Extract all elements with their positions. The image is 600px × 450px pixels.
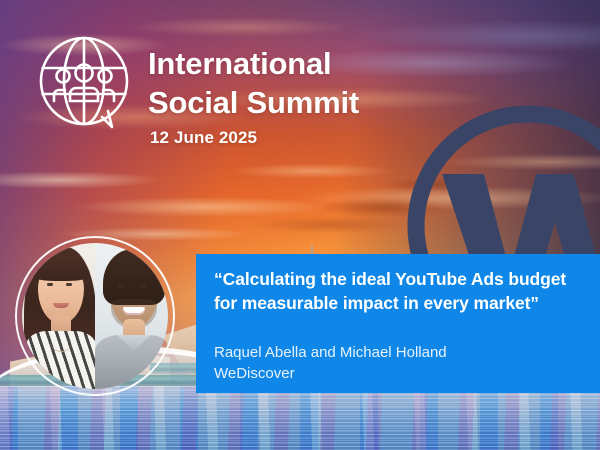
event-title-line-1: International — [148, 46, 331, 81]
session-title-quote: “Calculating the ideal YouTube Ads budge… — [214, 267, 586, 315]
speaker-organisation: WeDiscover — [214, 363, 295, 384]
globe-speech-bubble-icon — [32, 31, 140, 139]
event-date: 12 June 2025 — [150, 128, 257, 148]
session-details-panel: “Calculating the ideal YouTube Ads budge… — [196, 254, 600, 393]
speaker-names: Raquel Abella and Michael Holland — [214, 342, 447, 363]
event-promo-banner: International Social Summit 12 June 2025 — [0, 0, 600, 450]
event-title-line-2: Social Summit — [148, 83, 359, 122]
event-title: International Social Summit — [148, 44, 359, 122]
speaker-photo-ring — [15, 236, 175, 396]
